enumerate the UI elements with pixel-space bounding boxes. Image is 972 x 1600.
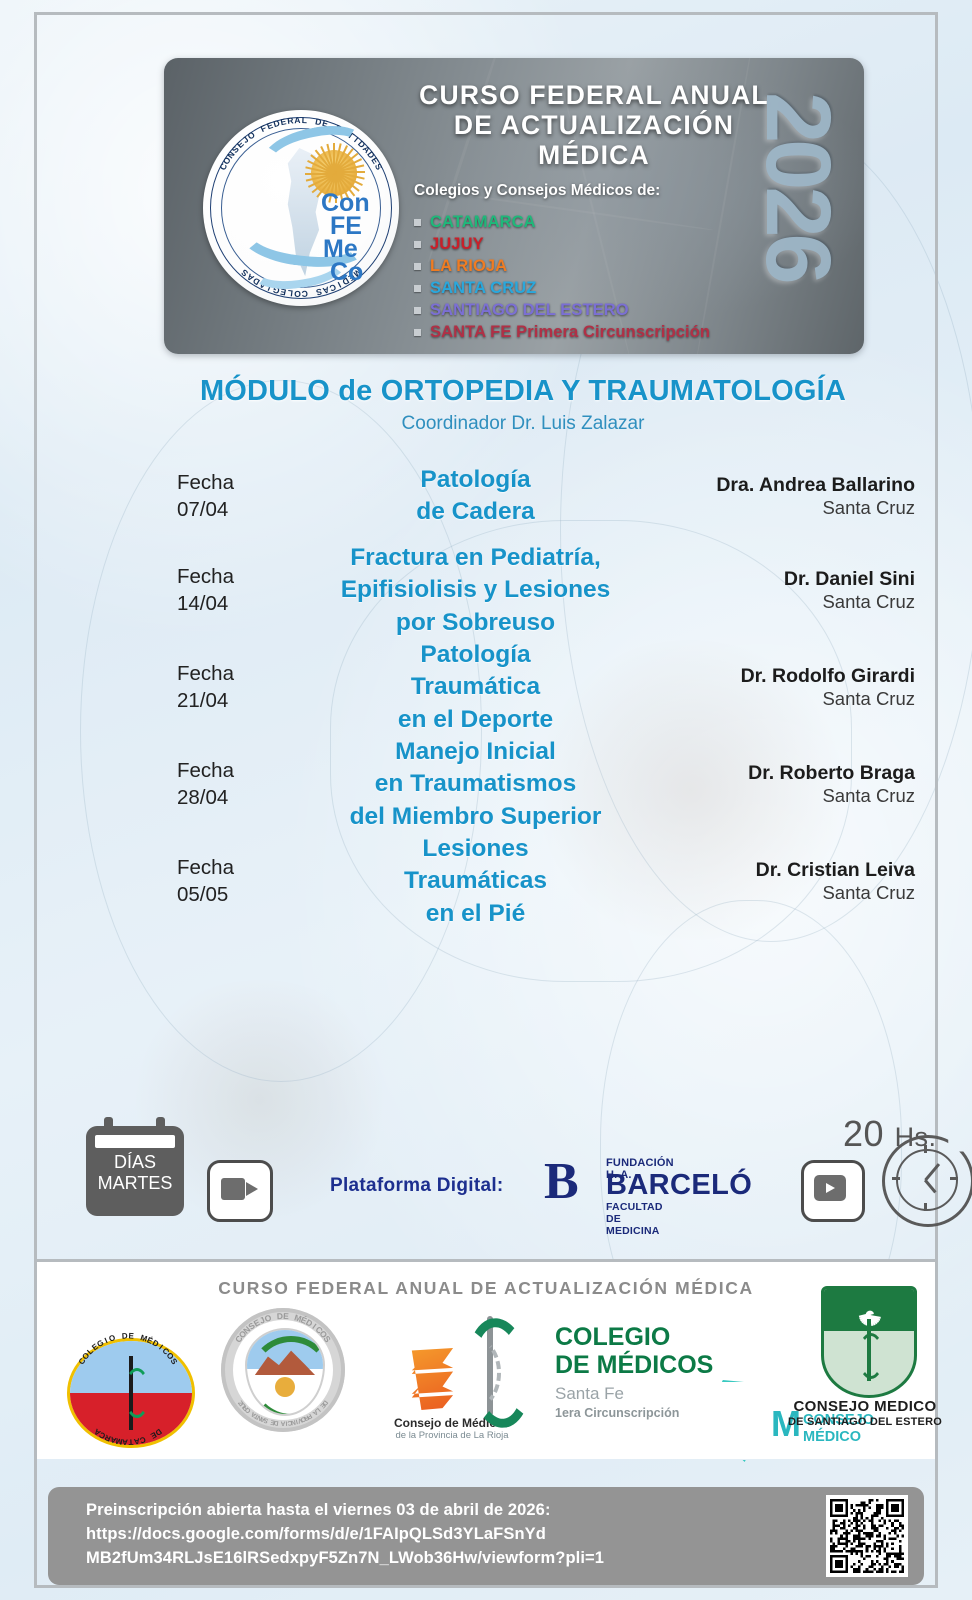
barcelo-monogram: B [544, 1156, 579, 1208]
schedule-row: Fecha14/04Fractura en Pediatría,Epifisio… [74, 542, 972, 639]
schedule-date-label: Fecha [177, 563, 254, 590]
confemeco-wordmark: Con FE Me Co [321, 192, 370, 284]
province-row: SANTA FE Primera Circunscripción [414, 323, 834, 342]
province-name: SANTA CRUZ [430, 279, 536, 298]
schedule-date: Fecha28/04 [74, 757, 254, 811]
schedule-list: Fecha07/04Patologíade CaderaDra. Andrea … [74, 450, 972, 930]
province-name: LA RIOJA [430, 257, 507, 276]
youtube-play-icon[interactable] [801, 1160, 865, 1222]
module-title: MÓDULO de ORTOPEDIA Y TRAUMATOLOGÍA [74, 375, 972, 408]
schedule-row: Fecha07/04Patologíade CaderaDra. Andrea … [74, 450, 972, 542]
platform-label: Plataforma Digital: [330, 1175, 504, 1197]
speaker-name: Dr. Roberto Braga [697, 762, 915, 785]
santiago-line2: DE SANTIAGO DEL ESTERO [785, 1416, 945, 1428]
santafe-line2: DE MÉDICOS [555, 1351, 713, 1379]
speaker-name: Dr. Cristian Leiva [697, 859, 915, 882]
santafe-title: COLEGIO DE MÉDICOS [555, 1324, 713, 1379]
registration-bar: Preinscripción abierta hasta el viernes … [48, 1487, 924, 1585]
logo-colegio-catamarca: COLEGIO DE MÉDICOS DE CATAMARCA [55, 1330, 197, 1448]
speaker-place: Santa Cruz [697, 785, 915, 807]
province-name: SANTA FE Primera Circunscripción [430, 323, 710, 342]
banner-title-line-3: MÉDICA [384, 140, 804, 170]
logo-consejo-santa-cruz: CONSEJO DE MÉDICOS DE LA PROVINCIA DE SA… [215, 1302, 351, 1442]
info-icon-bar: DÍAS MARTES Plataforma Digital: B FUNDAC… [74, 1113, 972, 1253]
speaker-place: Santa Cruz [697, 882, 915, 904]
schedule-row: Fecha05/05LesionesTraumáticasen el PiéDr… [74, 833, 972, 930]
qr-code-image [830, 1499, 904, 1573]
qr-code[interactable] [826, 1495, 908, 1577]
jujuy-map-icon [701, 1380, 779, 1462]
schedule-date-label: Fecha [177, 854, 254, 881]
schedule-date-label: Fecha [177, 757, 254, 784]
schedule-date-value: 14/04 [177, 590, 254, 617]
time-number: 20 [843, 1113, 884, 1154]
schedule-date: Fecha21/04 [74, 660, 254, 714]
video-camera-icon[interactable] [207, 1160, 273, 1222]
schedule-topic: Manejo Inicialen Traumatismosdel Miembro… [254, 736, 697, 833]
registration-url-line2[interactable]: MB2fUm34RLJsE16lRSedxpyF5Zn7N_LWob36Hw/v… [86, 1549, 604, 1567]
speaker-place: Santa Cruz [697, 591, 915, 613]
bullet-icon [414, 241, 421, 248]
bullet-icon [414, 329, 421, 336]
banner-title-line-1: CURSO FEDERAL ANUAL [384, 80, 804, 110]
santafe-line4: 1era Circunscripción [555, 1406, 679, 1420]
schedule-topic: LesionesTraumáticasen el Pié [254, 833, 697, 930]
speaker-place: Santa Cruz [697, 688, 915, 710]
bullet-icon [414, 219, 421, 226]
schedule-topic: Fractura en Pediatría,Epifisiolisis y Le… [254, 542, 697, 639]
schedule-date-value: 21/04 [177, 687, 254, 714]
schedule-row: Fecha21/04PatologíaTraumáticaen el Depor… [74, 639, 972, 736]
schedule-date-value: 05/05 [177, 881, 254, 908]
bullet-icon [414, 263, 421, 270]
province-row: SANTIAGO DEL ESTERO [414, 301, 834, 320]
poster-root: CONSEJO FEDERAL DE ENTIDADES MÉDICAS COL… [0, 0, 972, 1600]
module-coordinator: Coordinador Dr. Luis Zalazar [74, 413, 972, 435]
province-name: JUJUY [430, 235, 484, 254]
schedule-speaker: Dr. Rodolfo GirardiSanta Cruz [697, 665, 972, 710]
schedule-date-value: 28/04 [177, 784, 254, 811]
province-row: SANTA CRUZ [414, 279, 834, 298]
main-content-zone: CONSEJO FEDERAL DE ENTIDADES MÉDICAS COL… [37, 15, 935, 1257]
barcelo-line2: BARCELÓ [606, 1169, 752, 1202]
year-badge: 2026 [745, 92, 850, 281]
santafe-line1: COLEGIO [555, 1323, 670, 1351]
speaker-name: Dra. Andrea Ballarino [697, 474, 915, 497]
confemeco-word-co: Co [330, 261, 370, 284]
schedule-date-label: Fecha [177, 660, 254, 687]
banner-subtitle: Colegios y Consejos Médicos de: [414, 182, 794, 200]
calendar-day-value: MARTES [98, 1173, 173, 1193]
confemeco-logo: CONSEJO FEDERAL DE ENTIDADES MÉDICAS COL… [203, 110, 399, 306]
schedule-date: Fecha14/04 [74, 563, 254, 617]
santafe-line3: Santa Fe [555, 1384, 624, 1404]
calendar-icon: DÍAS MARTES [86, 1126, 184, 1216]
schedule-speaker: Dr. Daniel SiniSanta Cruz [697, 568, 972, 613]
schedule-topic: PatologíaTraumáticaen el Deporte [254, 639, 697, 736]
sponsors-panel: CURSO FEDERAL ANUAL DE ACTUALIZACIÓN MÉD… [37, 1259, 935, 1459]
province-name: CATAMARCA [430, 213, 536, 232]
banner-title-line-2: DE ACTUALIZACIÓN [384, 110, 804, 140]
schedule-topic: Patologíade Cadera [254, 464, 697, 529]
santiago-line1: CONSEJO MEDICO [785, 1398, 945, 1415]
schedule-row: Fecha28/04Manejo Inicialen Traumatismosd… [74, 736, 972, 833]
calendar-days-label: DÍAS [114, 1152, 156, 1172]
registration-text: Preinscripción abierta hasta el viernes … [86, 1499, 604, 1570]
logo-consejo-santiago-del-estero: CONSEJO MEDICO DE SANTIAGO DEL ESTERO [785, 1286, 945, 1450]
registration-url-line1[interactable]: https://docs.google.com/forms/d/e/1FAIpQ… [86, 1525, 546, 1543]
bullet-icon [414, 285, 421, 292]
speaker-name: Dr. Daniel Sini [697, 568, 915, 591]
clock-icon [882, 1135, 970, 1223]
schedule-date-label: Fecha [177, 469, 254, 496]
schedule-date: Fecha05/05 [74, 854, 254, 908]
schedule-speaker: Dra. Andrea BallarinoSanta Cruz [697, 474, 972, 519]
barcelo-line3: FACULTAD DE MEDICINA [606, 1201, 663, 1237]
speaker-name: Dr. Rodolfo Girardi [697, 665, 915, 688]
banner-title: CURSO FEDERAL ANUALDE ACTUALIZACIÓNMÉDIC… [384, 80, 804, 171]
schedule-date-value: 07/04 [177, 496, 254, 523]
schedule-speaker: Dr. Cristian LeivaSanta Cruz [697, 859, 972, 904]
speaker-place: Santa Cruz [697, 497, 915, 519]
registration-line1: Preinscripción abierta hasta el viernes … [86, 1501, 551, 1519]
schedule-date: Fecha07/04 [74, 469, 254, 523]
province-name: SANTIAGO DEL ESTERO [430, 301, 629, 320]
bullet-icon [414, 307, 421, 314]
header-banner: CONSEJO FEDERAL DE ENTIDADES MÉDICAS COL… [164, 58, 864, 354]
schedule-speaker: Dr. Roberto BragaSanta Cruz [697, 762, 972, 807]
